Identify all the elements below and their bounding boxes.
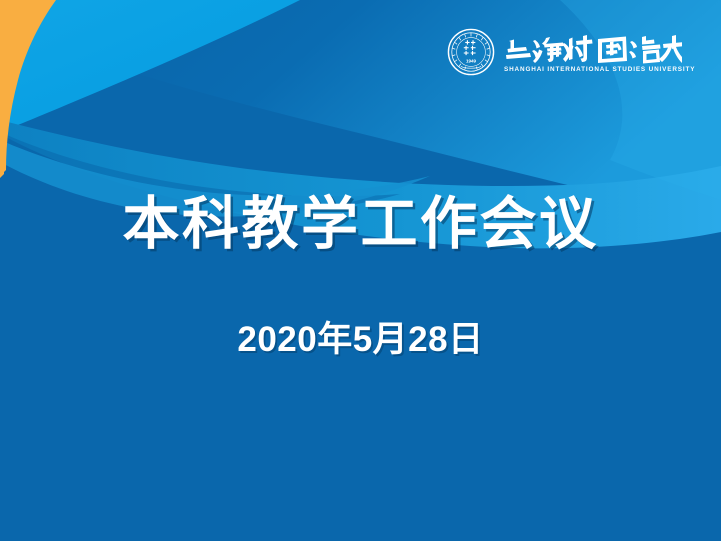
presentation-slide: 1949 — [0, 0, 721, 541]
university-wordmark: SHANGHAI INTERNATIONAL STUDIES UNIVERSIT… — [504, 31, 696, 73]
wordmark-chinese — [504, 33, 682, 64]
university-seal-emblem: 1949 — [447, 28, 495, 76]
decorative-background — [0, 0, 721, 541]
emblem-year: 1949 — [466, 59, 477, 64]
wordmark-english: SHANGHAI INTERNATIONAL STUDIES UNIVERSIT… — [504, 67, 695, 73]
university-logo: 1949 — [447, 28, 696, 76]
